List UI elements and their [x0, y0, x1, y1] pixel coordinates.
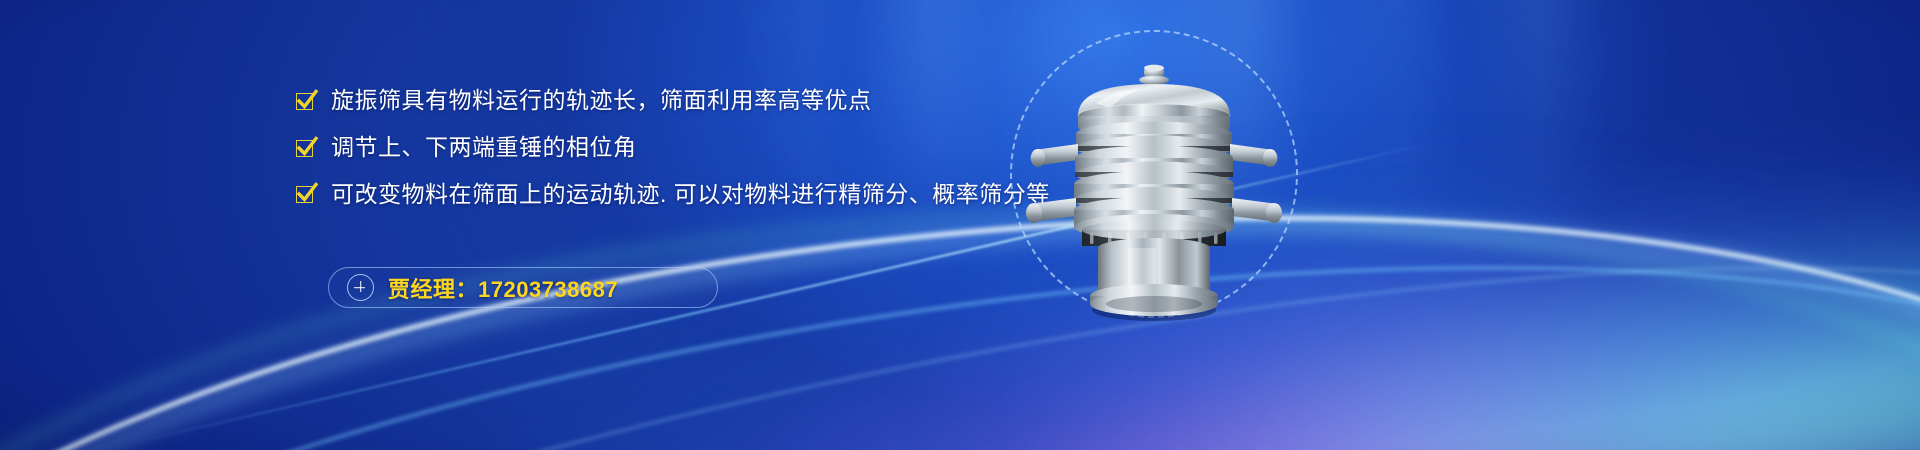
plus-circle-icon: [347, 274, 374, 301]
rotary-vibrating-sieve-image: [1016, 58, 1292, 323]
list-item: 可改变物料在筛面上的运动轨迹. 可以对物料进行精筛分、概率筛分等: [296, 180, 1056, 209]
list-item: 旋振筛具有物料运行的轨迹长，筛面利用率高等优点: [296, 86, 1056, 115]
checkbox-checked-icon: [296, 138, 317, 159]
background-gradient: [0, 0, 1920, 450]
contact-phone-button[interactable]: 贾经理：17203738687: [328, 267, 718, 308]
checkbox-checked-icon: [296, 91, 317, 112]
checkbox-checked-icon: [296, 184, 317, 205]
product-illustration: [1010, 30, 1310, 330]
feature-list: 旋振筛具有物料运行的轨迹长，筛面利用率高等优点 调节上、下两端重锤的相位角 可改…: [296, 86, 1056, 208]
list-item-label: 旋振筛具有物料运行的轨迹长，筛面利用率高等优点: [331, 86, 872, 115]
contact-phone-label: 贾经理：17203738687: [388, 272, 618, 304]
list-item-label: 可改变物料在筛面上的运动轨迹. 可以对物料进行精筛分、概率筛分等: [331, 180, 1050, 209]
promo-banner: 旋振筛具有物料运行的轨迹长，筛面利用率高等优点 调节上、下两端重锤的相位角 可改…: [0, 0, 1920, 450]
list-item: 调节上、下两端重锤的相位角: [296, 133, 1056, 162]
list-item-label: 调节上、下两端重锤的相位角: [331, 133, 637, 162]
